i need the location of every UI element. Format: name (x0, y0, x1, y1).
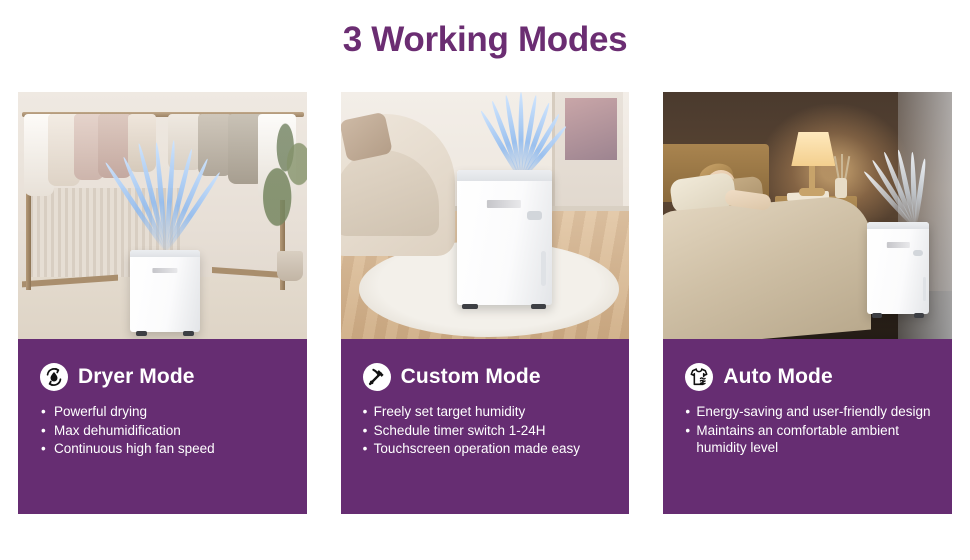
feature-item: Continuous high fan speed (40, 440, 291, 458)
device-foot (183, 331, 194, 336)
hanging-garment (168, 114, 202, 170)
dehumidifier-device (867, 222, 929, 314)
lamp-stem (809, 164, 815, 190)
device-top-vent (457, 170, 552, 181)
wall-art (565, 98, 617, 160)
mode-card-dryer[interactable]: Dryer Mode Powerful drying Max dehumidif… (18, 92, 307, 514)
device-foot (872, 313, 882, 318)
mode-header: Auto Mode (685, 363, 936, 391)
device-body (457, 170, 552, 305)
scene-living-room (341, 92, 630, 339)
mode-title: Auto Mode (723, 365, 832, 389)
device-body (130, 250, 200, 332)
device-body (867, 222, 929, 314)
reed-diffuser (835, 178, 847, 198)
card-photo-dryer (18, 92, 307, 339)
potted-plant (261, 120, 307, 230)
device-foot (914, 313, 924, 318)
feature-list-auto: Energy-saving and user-friendly design M… (685, 403, 936, 457)
card-photo-custom (341, 92, 630, 339)
mode-header: Custom Mode (363, 363, 614, 391)
feature-item: Energy-saving and user-friendly design (685, 403, 936, 421)
feature-item: Powerful drying (40, 403, 291, 421)
page-title: 3 Working Modes (0, 20, 970, 60)
mode-title: Custom Mode (401, 365, 541, 389)
hanging-garment (98, 114, 132, 178)
device-logo (887, 242, 909, 248)
tshirt-waves-icon (685, 363, 713, 391)
card-panel-custom: Custom Mode Freely set target humidity S… (341, 339, 630, 514)
water-drop-recycle-icon (40, 363, 68, 391)
hanging-garment (198, 114, 232, 176)
device-logo (152, 268, 177, 273)
lamp-base (799, 188, 825, 196)
dehumidifier-device (457, 170, 552, 305)
feature-item: Freely set target humidity (363, 403, 614, 421)
feature-list-dryer: Powerful drying Max dehumidification Con… (40, 403, 291, 458)
mode-header: Dryer Mode (40, 363, 291, 391)
device-handle (527, 211, 542, 220)
hanging-garment (128, 114, 156, 172)
table-lamp (791, 132, 835, 166)
device-side-vent (923, 277, 926, 301)
device-handle (913, 250, 923, 256)
device-side-vent (541, 251, 546, 286)
feature-item: Maintains an comfortable ambient humidit… (685, 422, 936, 457)
feature-item: Touchscreen operation made easy (363, 440, 614, 458)
card-panel-dryer: Dryer Mode Powerful drying Max dehumidif… (18, 339, 307, 514)
mode-card-custom[interactable]: Custom Mode Freely set target humidity S… (341, 92, 630, 514)
plant-pot (277, 251, 303, 281)
scene-wardrobe (18, 92, 307, 339)
feature-item: Schedule timer switch 1-24H (363, 422, 614, 440)
device-foot (531, 304, 546, 309)
feature-list-custom: Freely set target humidity Schedule time… (363, 403, 614, 458)
scene-bedroom-night (663, 92, 952, 339)
mode-card-grid: Dryer Mode Powerful drying Max dehumidif… (18, 92, 952, 514)
card-panel-auto: Auto Mode Energy-saving and user-friendl… (663, 339, 952, 514)
mode-card-auto[interactable]: Auto Mode Energy-saving and user-friendl… (663, 92, 952, 514)
tools-settings-icon (363, 363, 391, 391)
device-top-vent (867, 222, 929, 229)
dehumidifier-device (130, 250, 200, 332)
feature-item: Max dehumidification (40, 422, 291, 440)
device-logo (487, 200, 521, 208)
device-foot (462, 304, 477, 309)
device-foot (136, 331, 147, 336)
device-top-vent (130, 250, 200, 257)
card-photo-auto (663, 92, 952, 339)
mode-title: Dryer Mode (78, 365, 195, 389)
bed-duvet (663, 193, 871, 339)
